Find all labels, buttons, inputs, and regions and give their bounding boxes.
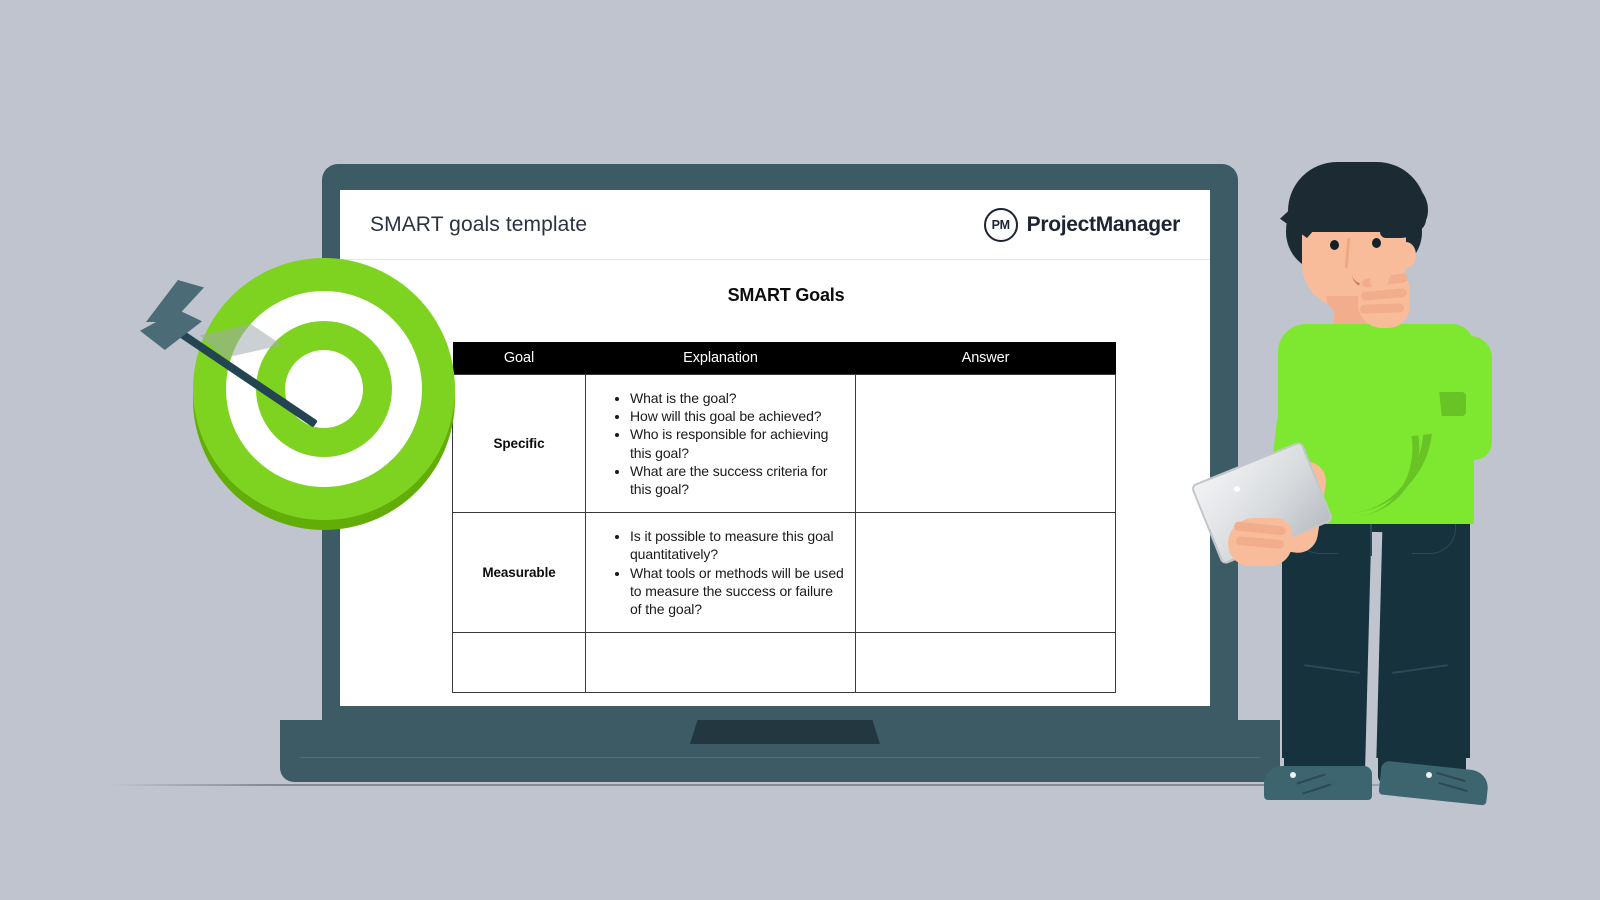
explanation-list: Is it possible to measure this goal quan… [596, 527, 845, 618]
brand-name: ProjectManager [1027, 213, 1180, 237]
list-item: What tools or methods will be used to me… [630, 564, 845, 619]
sheet-title: SMART Goals [340, 285, 1210, 306]
goal-label: Specific [453, 375, 586, 513]
table-header-row: Goal Explanation Answer [453, 342, 1116, 375]
shoe-lace-left [1290, 772, 1296, 778]
table-row: Measurable Is it possible to measure thi… [453, 513, 1116, 633]
list-item: How will this goal be achieved? [630, 407, 845, 425]
brand-logo: PM ProjectManager [984, 208, 1180, 242]
dartboard-icon [140, 236, 470, 536]
leg-right [1378, 590, 1466, 784]
pm-monogram-icon: PM [984, 208, 1018, 242]
column-header-goal: Goal [453, 342, 586, 375]
explanation-cell: What is the goal? How will this goal be … [586, 375, 856, 513]
document-header: SMART goals template PM ProjectManager [340, 190, 1210, 260]
eye-left [1330, 240, 1339, 250]
explanation-list: What is the goal? How will this goal be … [596, 389, 845, 498]
person-illustration [1230, 160, 1490, 810]
shoe-right [1379, 760, 1490, 805]
document-sheet: SMART Goals Goal Explanation Answer Spec… [340, 260, 1210, 706]
tablet-camera-icon [1234, 486, 1240, 492]
table-row [453, 633, 1116, 693]
laptop-hinge-notch [690, 720, 880, 744]
table-row: Specific What is the goal? How will this… [453, 375, 1116, 513]
explanation-cell [586, 633, 856, 693]
column-header-answer: Answer [856, 342, 1116, 375]
chin-finger-3 [1360, 303, 1404, 314]
shoe-lace-right [1426, 772, 1432, 778]
answer-cell[interactable] [856, 633, 1116, 693]
goal-label: Measurable [453, 513, 586, 633]
list-item: Is it possible to measure this goal quan… [630, 527, 845, 563]
answer-cell[interactable] [856, 513, 1116, 633]
list-item: What is the goal? [630, 389, 845, 407]
eye-right [1372, 238, 1381, 248]
screenshot-stage: SMART goals template PM ProjectManager S… [0, 0, 1600, 900]
answer-cell[interactable] [856, 375, 1116, 513]
page-title: SMART goals template [370, 213, 587, 237]
laptop-base-seam [300, 757, 1260, 758]
column-header-explanation: Explanation [586, 342, 856, 375]
ear [1396, 242, 1416, 268]
list-item: Who is responsible for achieving this go… [630, 425, 845, 461]
smart-goals-table: Goal Explanation Answer Specific What is… [452, 342, 1116, 693]
explanation-cell: Is it possible to measure this goal quan… [586, 513, 856, 633]
shoe-left [1264, 766, 1372, 800]
list-item: What are the success criteria for this g… [630, 462, 845, 498]
goal-label [453, 633, 586, 693]
laptop-screen: SMART goals template PM ProjectManager S… [340, 190, 1210, 706]
leg-left [1284, 590, 1370, 784]
